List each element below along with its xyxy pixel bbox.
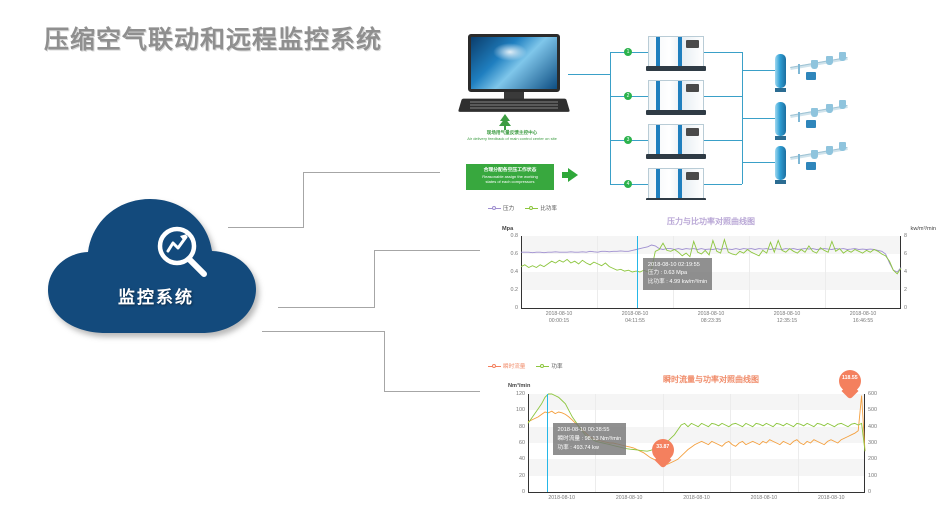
- pipe-left-bus: [610, 52, 611, 184]
- y-tick-label: 100: [516, 407, 525, 413]
- cloud-label: 监控系统: [42, 283, 270, 308]
- chart2-legend-marker-1: [536, 366, 549, 367]
- compressor-4: [648, 168, 704, 204]
- rail-1-machine: [806, 72, 816, 80]
- y2-tick-label: 0: [904, 305, 907, 311]
- node-dot-2: 2: [624, 92, 632, 100]
- y2-tick-label: 400: [868, 424, 877, 430]
- chart2-legend-item-1[interactable]: 功率: [536, 362, 562, 370]
- tooltip-line-0: 2018-08-10 02:19:55: [648, 261, 707, 270]
- chart1-legend-label-1: 比功率: [540, 204, 557, 212]
- pin-label: 118.55: [839, 375, 861, 381]
- compressor-2: [648, 80, 704, 116]
- right-arrow-icon: [568, 168, 578, 182]
- y-tick-label: 0: [522, 489, 525, 495]
- x-tick-label: 2018-08-1000:00:15: [546, 311, 573, 324]
- x-tick-label: 2018-08-10: [548, 495, 575, 502]
- y-tick-label: 120: [516, 391, 525, 397]
- y2-tick-label: 500: [868, 407, 877, 413]
- pin-body: [652, 439, 674, 461]
- pipe-out-4: [704, 184, 742, 185]
- y2-tick-label: 8: [904, 233, 907, 239]
- connector-3-v: [384, 331, 385, 391]
- node-dot-4: 4: [624, 180, 632, 188]
- rail-1-tool-2: [826, 56, 833, 65]
- x-tick-label: 2018-08-10: [818, 495, 845, 502]
- chart-marker-pin-0[interactable]: 33.87: [652, 439, 674, 467]
- chart1-legend-marker-1: [525, 208, 538, 209]
- x-tick-label: 2018-08-10: [683, 495, 710, 502]
- pin-body: [839, 370, 861, 392]
- x-tick-label: 2018-08-1008:23:35: [698, 311, 725, 324]
- chart-tooltip: 2018-08-10 00:38:55瞬时流量 : 98.13 Nm³/min功…: [553, 423, 627, 455]
- y-tick-label: 40: [519, 456, 525, 462]
- chart2-plot-area[interactable]: 02040608010012001002003004005006002018-0…: [528, 394, 865, 492]
- rail-2-tool-1: [811, 108, 818, 117]
- y-tick-label: 0.4: [511, 269, 519, 275]
- chart1-plot-area[interactable]: 00.20.40.60.8024682018-08-1000:00:152018…: [521, 236, 901, 308]
- rail-2-tool-2: [826, 104, 833, 113]
- tooltip-line-0: 2018-08-10 00:38:55: [558, 426, 622, 435]
- y2-tick-label: 6: [904, 251, 907, 257]
- chart1-y2label: kw/m³/min: [911, 226, 936, 232]
- pipe-to-tank-1: [742, 70, 778, 71]
- y2-tick-label: 600: [868, 391, 877, 397]
- chart2-ylabel: Nm³/min: [508, 383, 530, 389]
- air-tank-2: [775, 102, 786, 136]
- page-title: 压缩空气联动和远程监控系统: [44, 20, 382, 56]
- chart1-legend-item-0[interactable]: 压力: [488, 204, 514, 212]
- chart-cursor-line[interactable]: [637, 236, 638, 308]
- y-tick-label: 0: [515, 305, 518, 311]
- tooltip-line-1: 瞬时流量 : 98.13 Nm³/min: [558, 435, 622, 444]
- rail-3-machine: [806, 162, 816, 170]
- pipe-out-2: [704, 96, 742, 97]
- x-axis-line: [521, 308, 901, 309]
- rail-3-tool-2: [826, 146, 833, 155]
- y2-tick-label: 4: [904, 269, 907, 275]
- chart1-legend-label-0: 压力: [503, 204, 514, 212]
- x-tick-label: 2018-08-10: [616, 495, 643, 502]
- x-axis-line: [528, 492, 865, 493]
- air-tank-2-leg: [775, 136, 786, 140]
- y2-tick-label: 2: [904, 287, 907, 293]
- pipe-out-3: [704, 140, 742, 141]
- pressure-chart-panel[interactable]: 压力 比功率 压力与比功率对照曲线图 Mpa kw/m³/min 00.20.4…: [480, 200, 942, 332]
- tooltip-line-2: 比功率 : 4.99 kw/m³/min: [648, 278, 707, 287]
- chart1-legend-marker-0: [488, 208, 501, 209]
- compressor-3: [648, 124, 704, 160]
- connector-2-h1: [278, 307, 374, 308]
- rail-2-machine: [806, 120, 816, 128]
- x-tick-label: 2018-08-10: [751, 495, 778, 502]
- control-center-label-en: Air delivery feedback of main control ce…: [450, 136, 574, 141]
- pipe-monitor-out: [568, 74, 610, 75]
- rail-1-drop-1: [798, 64, 800, 74]
- air-tank-3-leg: [775, 180, 786, 184]
- chart-cursor-line[interactable]: [547, 394, 548, 492]
- pin-label: 33.87: [652, 444, 674, 450]
- air-tank-1-leg: [775, 88, 786, 92]
- connector-2-v: [374, 250, 375, 308]
- rail-1-tool-3: [839, 52, 846, 61]
- y-tick-label: 0.2: [511, 287, 519, 293]
- air-tank-1: [775, 54, 786, 88]
- chart2-legend-label-0: 瞬时流量: [503, 362, 525, 370]
- chart1-ylabel: Mpa: [502, 226, 513, 232]
- chart-tooltip: 2018-08-10 02:19:55压力 : 0.63 Mpa比功率 : 4.…: [643, 258, 712, 290]
- desktop-monitor-icon: [460, 34, 568, 116]
- rail-2-drop-1: [798, 112, 800, 122]
- rail-2-tool-3: [839, 100, 846, 109]
- node-dot-1: 1: [624, 48, 632, 56]
- y-tick-label: 60: [519, 440, 525, 446]
- compressor-1: [648, 36, 704, 72]
- node-dot-3: 3: [624, 136, 632, 144]
- tooltip-line-1: 压力 : 0.63 Mpa: [648, 269, 707, 278]
- assign-states-en-2: states of each compressors: [466, 179, 554, 184]
- chart-magnifier-icon: [150, 221, 216, 287]
- tree-icon: [498, 114, 512, 130]
- pipe-out-1: [704, 52, 742, 53]
- connector-3-h2: [384, 391, 484, 392]
- rail-3-drop-1: [798, 154, 800, 164]
- control-center-label: 现场用气量反馈主控中心 Air delivery feedback of mai…: [450, 130, 574, 141]
- chart2-legend-label-1: 功率: [551, 362, 562, 370]
- chart-marker-pin-1[interactable]: 118.55: [839, 370, 861, 398]
- y-tick-label: 80: [519, 424, 525, 430]
- y2-tick-label: 100: [868, 473, 877, 479]
- y2-tick-label: 300: [868, 440, 877, 446]
- chart2-legend-item-0[interactable]: 瞬时流量: [488, 362, 525, 370]
- tooltip-line-2: 功率 : 493.74 kw: [558, 444, 622, 453]
- chart2-legend[interactable]: 瞬时流量 功率: [488, 362, 563, 370]
- connector-1-h1: [228, 227, 303, 228]
- flow-power-chart-panel[interactable]: 瞬时流量 功率 瞬时流量与功率对照曲线图 Nm³/min 02040608010…: [480, 358, 942, 526]
- y2-tick-label: 0: [868, 489, 871, 495]
- y-tick-label: 20: [519, 473, 525, 479]
- connector-3-h1: [262, 331, 384, 332]
- chart1-legend[interactable]: 压力 比功率: [488, 204, 557, 212]
- y2-tick-label: 200: [868, 456, 877, 462]
- connector-2-h2: [374, 250, 484, 251]
- monitoring-cloud[interactable]: 监控系统: [42, 195, 287, 340]
- y-tick-label: 0.6: [511, 251, 519, 257]
- chart2-legend-marker-0: [488, 366, 501, 367]
- x-tick-label: 2018-08-1016:46:55: [850, 311, 877, 324]
- air-tank-3: [775, 146, 786, 180]
- pipe-to-tank-3: [742, 162, 778, 163]
- pipe-to-tank-2: [742, 118, 778, 119]
- chart1-legend-item-1[interactable]: 比功率: [525, 204, 557, 212]
- system-architecture-diagram: 现场用气量反馈主控中心 Air delivery feedback of mai…: [440, 22, 945, 202]
- connector-1-v: [303, 172, 304, 228]
- chart2-title: 瞬时流量与功率对照曲线图: [480, 374, 942, 385]
- assign-states-callout: 合理分配各空压工作状态 Reasonable assign the workin…: [466, 164, 554, 190]
- chart1-title: 压力与比功率对照曲线图: [480, 216, 942, 227]
- rail-1-tool-1: [811, 60, 818, 69]
- rail-3-tool-3: [839, 142, 846, 151]
- x-tick-label: 2018-08-1012:35:15: [774, 311, 801, 324]
- rail-3-tool-1: [811, 150, 818, 159]
- connector-1-h2: [303, 172, 440, 173]
- y-tick-label: 0.8: [511, 233, 519, 239]
- x-tick-label: 2018-08-1004:11:55: [622, 311, 649, 324]
